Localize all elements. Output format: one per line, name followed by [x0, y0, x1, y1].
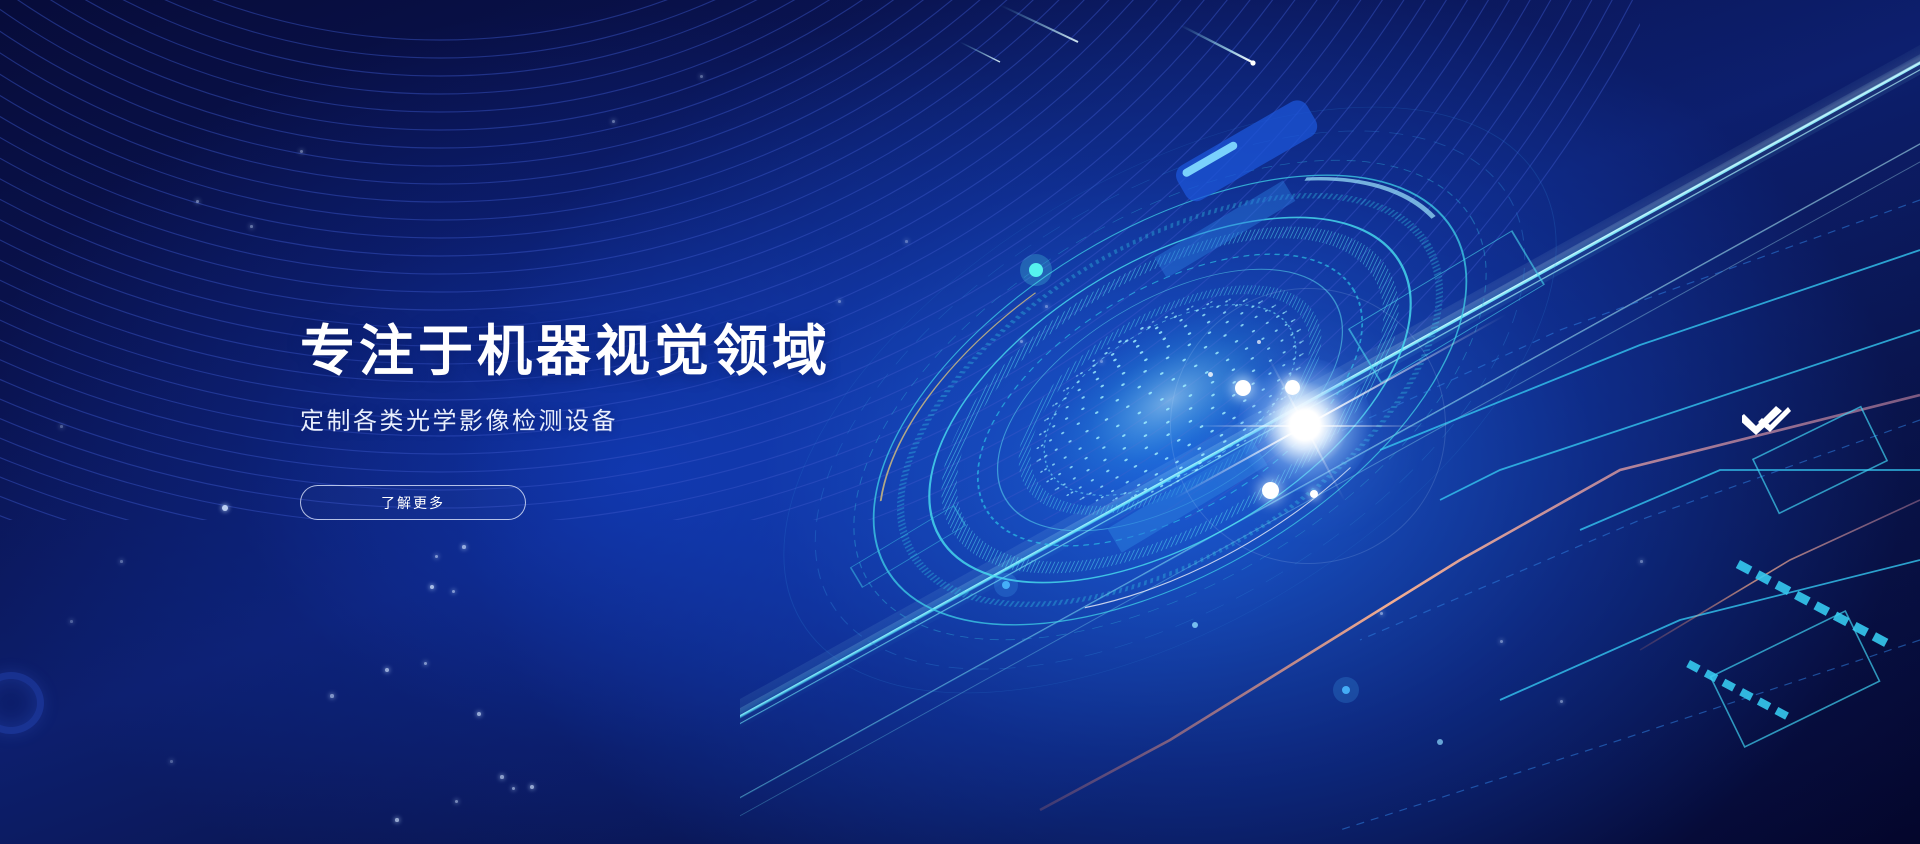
lens-flare-ring [0, 672, 44, 734]
learn-more-button[interactable]: 了解更多 [300, 485, 526, 520]
star-particle [700, 75, 703, 78]
star-particle [500, 775, 504, 779]
star-particle [222, 505, 228, 511]
star-particle [530, 785, 534, 789]
star-particle [1640, 560, 1643, 563]
page-title: 专注于机器视觉领域 [300, 320, 1060, 383]
star-particle [395, 818, 399, 822]
star-particle [1500, 640, 1503, 643]
page-subtitle: 定制各类光学影像检测设备 [300, 401, 1060, 436]
burst-spike [1195, 425, 1305, 427]
double-chevron-icon [1742, 404, 1792, 438]
flare-dot [1262, 482, 1279, 499]
star-particle [70, 620, 73, 623]
star-particle [60, 425, 63, 428]
hero-banner: 专注于机器视觉领域 定制各类光学影像检测设备 了解更多 [0, 0, 1920, 844]
star-particle [1560, 700, 1563, 703]
star-particle [170, 760, 173, 763]
star-particle [435, 555, 438, 558]
burst-spike [1305, 425, 1425, 427]
star-particle [424, 662, 427, 665]
star-particle [905, 240, 908, 243]
hero-content: 专注于机器视觉领域 定制各类光学影像检测设备 了解更多 [300, 320, 1060, 520]
star-particle [512, 787, 515, 790]
star-particle [612, 120, 615, 123]
star-particle [1100, 360, 1103, 363]
star-particle [1045, 305, 1048, 308]
star-particle [300, 150, 303, 153]
star-particle [250, 225, 253, 228]
star-particle [477, 712, 481, 716]
flare-dot [1257, 340, 1261, 344]
star-particle [430, 585, 434, 589]
flare-dot [1310, 490, 1318, 498]
star-particle [452, 590, 455, 593]
star-particle [196, 200, 199, 203]
star-particle [1380, 612, 1383, 615]
star-particle [120, 560, 123, 563]
star-particle [385, 668, 389, 672]
star-particle [330, 694, 334, 698]
star-particle [462, 545, 466, 549]
flare-dot [1285, 380, 1300, 395]
flare-dot [1235, 380, 1251, 396]
star-particle [838, 300, 841, 303]
star-particle [455, 800, 458, 803]
flare-dot [1208, 372, 1213, 377]
